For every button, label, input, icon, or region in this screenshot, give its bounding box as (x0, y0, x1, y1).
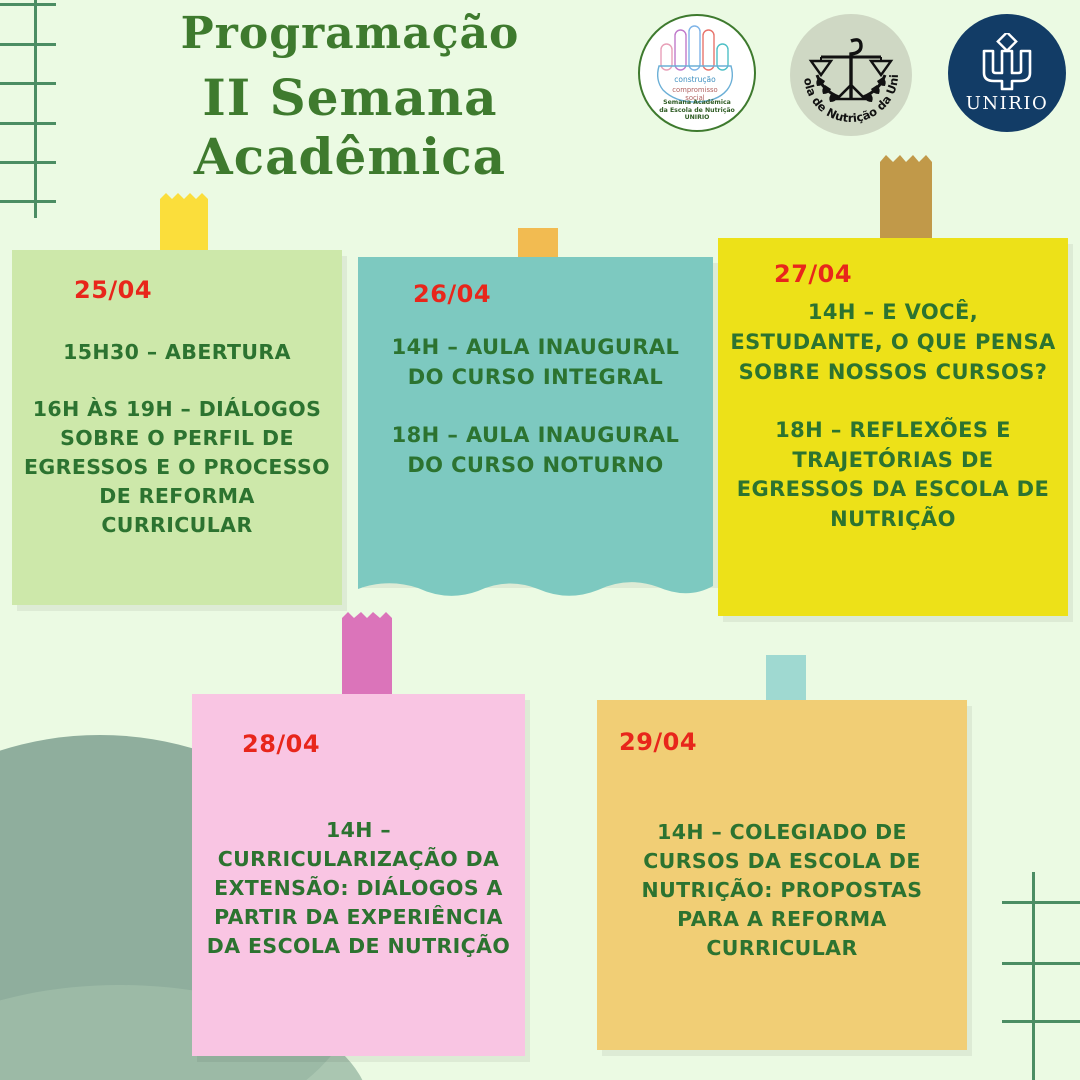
hand-caption-line-2: da Escola de Nutrição (640, 107, 754, 115)
title-line-2: II Semana Acadêmica (60, 68, 640, 186)
hand-logo-caption: Semana Acadêmica da Escola de Nutrição U… (640, 99, 754, 122)
note-card-25-04[interactable]: 25/04 15H30 – ABERTURA 16H ÀS 19H – DIÁL… (12, 250, 342, 605)
note-line: 18H – AULA INAUGURAL DO CURSO NOTURNO (370, 421, 701, 481)
note-date-29-04: 29/04 (619, 728, 697, 756)
svg-text:Escola de Nutrição da Unirio: Escola de Nutrição da Unirio (790, 14, 901, 125)
note-date-26-04: 26/04 (413, 280, 491, 308)
unirio-logo: UNIRIO (948, 14, 1066, 132)
grid-horizontal-bottomright-2 (1002, 962, 1080, 965)
seal-text-path: Escola de Nutrição da Unirio (790, 14, 901, 125)
note-date-28-04: 28/04 (242, 730, 320, 758)
note-card-27-04[interactable]: 27/04 14H – E VOCÊ, ESTUDANTE, O QUE PEN… (718, 238, 1068, 616)
poster-canvas: Programação II Semana Acadêmica construç… (0, 0, 1080, 1080)
title-line-1: Programação (60, 8, 640, 60)
note-line: 14H – COLEGIADO DE CURSOS DA ESCOLA DE N… (609, 818, 955, 964)
svg-text:compromisso: compromisso (672, 86, 717, 94)
note-date-25-04: 25/04 (74, 276, 152, 304)
page-title: Programação II Semana Acadêmica (60, 8, 640, 186)
note-body-28-04: 14H – CURRICULARIZAÇÃO DA EXTENSÃO: DIÁL… (192, 816, 525, 962)
note-line: 16H ÀS 19H – DIÁLOGOS SOBRE O PERFIL DE … (24, 395, 330, 541)
note-line: 18H – REFLEXÕES E TRAJETÓRIAS DE EGRESSO… (730, 416, 1056, 535)
note-date-27-04: 27/04 (774, 260, 852, 288)
hand-caption-line-1: Semana Acadêmica (640, 99, 754, 107)
svg-text:construção: construção (674, 75, 716, 84)
torn-edge-icon (358, 580, 713, 602)
grid-horizontal-bottomright-1 (1002, 901, 1080, 904)
note-card-29-04[interactable]: 29/04 14H – COLEGIADO DE CURSOS DA ESCOL… (597, 700, 967, 1050)
escola-de-nutricao-seal: Escola de Nutrição da Unirio (790, 14, 912, 136)
grid-horizontal-bottomright-3 (1002, 1020, 1080, 1023)
note-line: 14H – E VOCÊ, ESTUDANTE, O QUE PENSA SOB… (730, 298, 1056, 387)
note-body-25-04: 15H30 – ABERTURA 16H ÀS 19H – DIÁLOGOS S… (12, 338, 342, 540)
unirio-mark-icon (976, 33, 1038, 91)
note-card-28-04[interactable]: 28/04 14H – CURRICULARIZAÇÃO DA EXTENSÃO… (192, 694, 525, 1056)
hand-icon: construção compromisso social (645, 24, 749, 108)
semana-academica-hand-logo: construção compromisso social Semana Aca… (638, 14, 756, 132)
poster-header: Programação II Semana Acadêmica construç… (0, 0, 1080, 165)
note-body-27-04: 14H – E VOCÊ, ESTUDANTE, O QUE PENSA SOB… (718, 298, 1068, 535)
unirio-wordmark: UNIRIO (966, 93, 1048, 114)
note-line: 14H – AULA INAUGURAL DO CURSO INTEGRAL (370, 333, 701, 393)
note-body-26-04: 14H – AULA INAUGURAL DO CURSO INTEGRAL 1… (358, 333, 713, 481)
note-body-29-04: 14H – COLEGIADO DE CURSOS DA ESCOLA DE N… (597, 818, 967, 964)
note-card-26-04[interactable]: 26/04 14H – AULA INAUGURAL DO CURSO INTE… (358, 257, 713, 582)
hand-caption-line-3: UNIRIO (640, 114, 754, 122)
grid-horizontal-topleft-6 (0, 200, 56, 203)
note-line: 15H30 – ABERTURA (24, 338, 330, 367)
seal-curved-text: Escola de Nutrição da Unirio (790, 14, 912, 136)
note-line: 14H – CURRICULARIZAÇÃO DA EXTENSÃO: DIÁL… (204, 816, 513, 962)
